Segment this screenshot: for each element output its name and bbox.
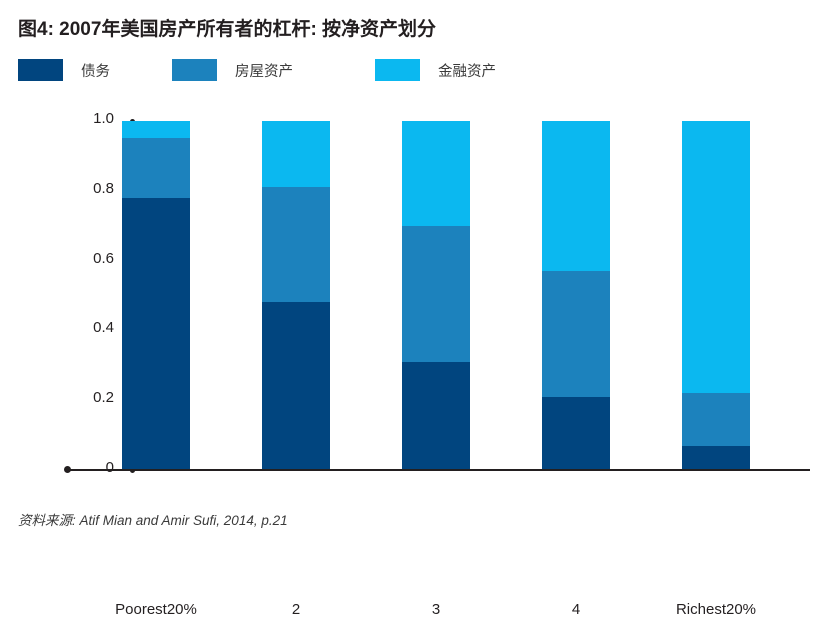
- x-axis-tick-label: 2: [292, 601, 300, 618]
- legend-item-financial: 金融资产: [375, 58, 496, 82]
- bar-segment[interactable]: [402, 226, 470, 362]
- bar-richest20-[interactable]: [682, 121, 750, 470]
- bar-segment[interactable]: [402, 121, 470, 226]
- bar-segment[interactable]: [122, 121, 190, 138]
- legend-label-housing: 房屋资产: [235, 60, 293, 81]
- bar-segment[interactable]: [682, 121, 750, 393]
- bar-segment[interactable]: [122, 198, 190, 470]
- bar-segment[interactable]: [682, 393, 750, 445]
- chart-title: 图4: 2007年美国房产所有者的杠杆: 按净资产划分: [18, 14, 436, 41]
- y-axis-tick-label: 0.8: [93, 180, 114, 197]
- y-axis-tick-label: 1.0: [93, 110, 114, 127]
- bar-segment[interactable]: [682, 446, 750, 470]
- legend-item-debt: 债务: [18, 58, 110, 82]
- bar-segment[interactable]: [262, 302, 330, 470]
- legend-label-debt: 债务: [81, 60, 110, 81]
- x-axis-tick-label: Richest20%: [676, 601, 756, 618]
- bar-poorest20-[interactable]: [122, 121, 190, 470]
- x-axis-origin-dot: [64, 466, 71, 473]
- y-axis-tick-label: 0: [106, 459, 114, 476]
- x-axis-line: [68, 469, 810, 471]
- legend-swatch-financial: [375, 59, 420, 81]
- x-axis-tick-label: Poorest20%: [115, 601, 197, 618]
- bar-segment[interactable]: [262, 187, 330, 302]
- bar-segment[interactable]: [542, 271, 610, 397]
- y-axis-tick-label: 0.2: [93, 389, 114, 406]
- plot-area: 00.20.40.60.81.0Poorest20%234Richest20%: [68, 121, 810, 470]
- y-axis-tick-label: 0.6: [93, 250, 114, 267]
- chart-figure: 图4: 2007年美国房产所有者的杠杆: 按净资产划分 债务 房屋资产 金融资产…: [0, 0, 840, 540]
- legend-swatch-debt: [18, 59, 63, 81]
- source-note: 资料来源: Atif Mian and Amir Sufi, 2014, p.2…: [18, 509, 288, 529]
- x-axis-tick-label: 3: [432, 601, 440, 618]
- bar-segment[interactable]: [262, 121, 330, 187]
- bar-2[interactable]: [262, 121, 330, 470]
- legend-item-housing: 房屋资产: [172, 58, 293, 82]
- legend-swatch-housing: [172, 59, 217, 81]
- y-axis-tick-label: 0.4: [93, 319, 114, 336]
- legend-label-financial: 金融资产: [438, 60, 496, 81]
- bar-segment[interactable]: [402, 362, 470, 470]
- bar-3[interactable]: [402, 121, 470, 470]
- bar-4[interactable]: [542, 121, 610, 470]
- bar-segment[interactable]: [122, 138, 190, 197]
- bar-segment[interactable]: [542, 121, 610, 271]
- bar-segment[interactable]: [542, 397, 610, 470]
- x-axis-tick-label: 4: [572, 601, 580, 618]
